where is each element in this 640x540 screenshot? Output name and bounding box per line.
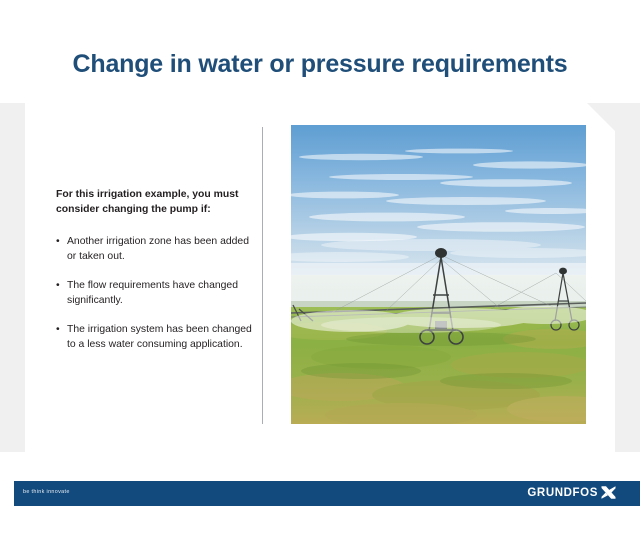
list-item-label: Another irrigation zone has been added o… [67, 236, 249, 262]
footer-tagline: be think innovate [23, 489, 70, 495]
irrigation-photo-graphic [291, 125, 586, 424]
grundfos-logo-text: GRUNDFOS [527, 487, 598, 499]
lead-paragraph: For this irrigation example, you must co… [56, 188, 256, 218]
list-item-label: The flow requirements have changed signi… [67, 280, 238, 306]
column-divider [262, 127, 263, 424]
irrigation-photo [291, 125, 586, 424]
bullet-list: • Another irrigation zone has been added… [56, 234, 256, 352]
text-column: For this irrigation example, you must co… [56, 188, 256, 352]
list-item: • The flow requirements have changed sig… [56, 278, 256, 308]
bullet-marker-icon: • [56, 234, 60, 249]
list-item: • The irrigation system has been changed… [56, 322, 256, 352]
slide: Change in water or pressure requirements… [0, 0, 640, 540]
card-backdrop-right [615, 103, 640, 452]
card-backdrop-left [0, 103, 25, 452]
page-title: Change in water or pressure requirements [0, 50, 640, 79]
list-item-label: The irrigation system has been changed t… [67, 324, 252, 350]
list-item: • Another irrigation zone has been added… [56, 234, 256, 264]
bullet-marker-icon: • [56, 322, 60, 337]
footer-bar: be think innovate GRUNDFOS [14, 481, 640, 506]
grundfos-logo: GRUNDFOS [527, 485, 616, 500]
bullet-marker-icon: • [56, 278, 60, 293]
grundfos-x-icon [601, 485, 616, 500]
